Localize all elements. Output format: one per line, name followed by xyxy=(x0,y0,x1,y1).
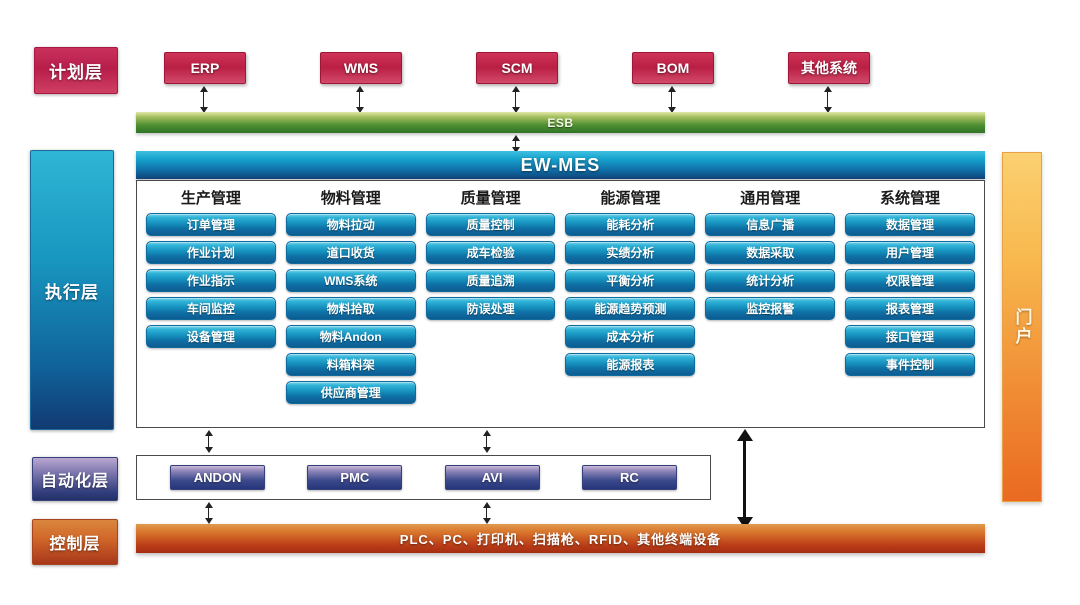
mes-module-button[interactable]: 统计分析 xyxy=(705,269,835,292)
connector-arrow-automation-control-right xyxy=(486,507,487,519)
mes-module-button[interactable]: 车间监控 xyxy=(146,297,276,320)
automation-items: ANDON PMC AVI RC xyxy=(137,465,710,490)
control-layer-bar: PLC、PC、打印机、扫描枪、RFID、其他终端设备 xyxy=(136,524,985,553)
mes-module-button[interactable]: 权限管理 xyxy=(845,269,975,292)
planning-system-box[interactable]: BOM xyxy=(632,52,714,84)
layer-tab-control-label: 控制层 xyxy=(49,530,100,554)
mes-header: EW-MES xyxy=(136,151,985,179)
automation-button-andon[interactable]: ANDON xyxy=(170,465,265,490)
mes-column-title: 能源管理 xyxy=(600,187,660,208)
layer-tab-planning[interactable]: 计划层 xyxy=(34,47,118,94)
planning-system-label: SCM xyxy=(501,60,532,76)
layer-tab-control[interactable]: 控制层 xyxy=(32,519,118,565)
layer-tab-planning-label: 计划层 xyxy=(49,58,103,83)
mes-module-button[interactable]: 作业指示 xyxy=(146,269,276,292)
planning-system-label: BOM xyxy=(657,60,690,76)
portal-label: 门户 xyxy=(1010,308,1035,346)
planning-system-label: 其他系统 xyxy=(801,58,857,78)
esb-label: ESB xyxy=(547,116,573,130)
mes-module-button[interactable]: 信息广播 xyxy=(705,213,835,236)
connector-arrow-mes-automation-left xyxy=(208,435,209,448)
connector-arrow-mes-automation-right xyxy=(486,435,487,448)
mes-module-button[interactable]: 数据管理 xyxy=(845,213,975,236)
automation-layer-panel: ANDON PMC AVI RC xyxy=(136,455,711,500)
mes-columns: 生产管理 订单管理 作业计划 作业指示 车间监控 设备管理 物料管理 物料拉动 … xyxy=(137,181,984,427)
mes-module-button[interactable]: 质量追溯 xyxy=(426,269,556,292)
mes-module-button[interactable]: 平衡分析 xyxy=(565,269,695,292)
planning-system-box[interactable]: WMS xyxy=(320,52,402,84)
connector-arrow-mes-control xyxy=(743,440,746,518)
mes-module-button[interactable]: 监控报警 xyxy=(705,297,835,320)
mes-module-button[interactable]: 报表管理 xyxy=(845,297,975,320)
mes-module-button[interactable]: 订单管理 xyxy=(146,213,276,236)
mes-title: EW-MES xyxy=(521,155,601,176)
connector-arrow-automation-control-left xyxy=(208,507,209,519)
mes-column-title: 通用管理 xyxy=(740,187,800,208)
mes-column-energy: 能源管理 能耗分析 实绩分析 平衡分析 能源趋势预测 成本分析 能源报表 xyxy=(560,187,700,421)
mes-module-button[interactable]: 用户管理 xyxy=(845,241,975,264)
mes-module-button[interactable]: 成车检验 xyxy=(426,241,556,264)
automation-button-pmc[interactable]: PMC xyxy=(307,465,402,490)
mes-module-button[interactable]: 作业计划 xyxy=(146,241,276,264)
mes-module-button[interactable]: 事件控制 xyxy=(845,353,975,376)
mes-column-material: 物料管理 物料拉动 道口收货 WMS系统 物料拾取 物料Andon 料箱料架 供… xyxy=(281,187,421,421)
connector-arrow-esb-mes xyxy=(515,140,516,148)
connector-arrow-wms-esb xyxy=(359,91,360,108)
mes-module-button[interactable]: 物料拉动 xyxy=(286,213,416,236)
mes-module-button[interactable]: 成本分析 xyxy=(565,325,695,348)
automation-button-avi[interactable]: AVI xyxy=(445,465,540,490)
mes-column-title: 质量管理 xyxy=(461,187,521,208)
control-layer-label: PLC、PC、打印机、扫描枪、RFID、其他终端设备 xyxy=(400,529,721,548)
planning-system-label: WMS xyxy=(344,60,378,76)
connector-arrow-scm-esb xyxy=(515,91,516,108)
mes-column-system: 系统管理 数据管理 用户管理 权限管理 报表管理 接口管理 事件控制 xyxy=(840,187,980,421)
mes-column-title: 生产管理 xyxy=(181,187,241,208)
mes-module-button[interactable]: 能源报表 xyxy=(565,353,695,376)
mes-column-common: 通用管理 信息广播 数据采取 统计分析 监控报警 xyxy=(700,187,840,421)
mes-module-button[interactable]: 接口管理 xyxy=(845,325,975,348)
mes-module-button[interactable]: 设备管理 xyxy=(146,325,276,348)
mes-module-button[interactable]: 能源趋势预测 xyxy=(565,297,695,320)
planning-system-box[interactable]: 其他系统 xyxy=(788,52,870,84)
architecture-diagram: 计划层 执行层 自动化层 控制层 ERP WMS SCM BOM 其他系统 ES… xyxy=(0,0,1080,605)
connector-arrow-erp-esb xyxy=(203,91,204,108)
layer-tab-execution-label: 执行层 xyxy=(45,278,99,303)
mes-module-button[interactable]: 实绩分析 xyxy=(565,241,695,264)
mes-column-title: 系统管理 xyxy=(880,187,940,208)
esb-bar: ESB xyxy=(136,112,985,133)
mes-column-title: 物料管理 xyxy=(321,187,381,208)
mes-module-button[interactable]: 物料拾取 xyxy=(286,297,416,320)
mes-column-quality: 质量管理 质量控制 成车检验 质量追溯 防误处理 xyxy=(421,187,561,421)
planning-system-box[interactable]: SCM xyxy=(476,52,558,84)
mes-module-button[interactable]: 质量控制 xyxy=(426,213,556,236)
mes-module-button[interactable]: 道口收货 xyxy=(286,241,416,264)
automation-button-rc[interactable]: RC xyxy=(582,465,677,490)
mes-module-button[interactable]: 防误处理 xyxy=(426,297,556,320)
mes-module-button[interactable]: WMS系统 xyxy=(286,269,416,292)
mes-module-button[interactable]: 物料Andon xyxy=(286,325,416,348)
connector-arrow-other-esb xyxy=(827,91,828,108)
mes-module-panel: 生产管理 订单管理 作业计划 作业指示 车间监控 设备管理 物料管理 物料拉动 … xyxy=(136,180,985,428)
mes-module-button[interactable]: 供应商管理 xyxy=(286,381,416,404)
layer-tab-execution[interactable]: 执行层 xyxy=(30,150,114,430)
portal-bar[interactable]: 门户 xyxy=(1002,152,1042,502)
layer-tab-automation[interactable]: 自动化层 xyxy=(32,457,118,501)
planning-system-box[interactable]: ERP xyxy=(164,52,246,84)
mes-module-button[interactable]: 能耗分析 xyxy=(565,213,695,236)
mes-module-button[interactable]: 料箱料架 xyxy=(286,353,416,376)
connector-arrow-bom-esb xyxy=(671,91,672,108)
layer-tab-automation-label: 自动化层 xyxy=(41,467,109,491)
mes-module-button[interactable]: 数据采取 xyxy=(705,241,835,264)
mes-column-production: 生产管理 订单管理 作业计划 作业指示 车间监控 设备管理 xyxy=(141,187,281,421)
planning-system-label: ERP xyxy=(191,60,220,76)
